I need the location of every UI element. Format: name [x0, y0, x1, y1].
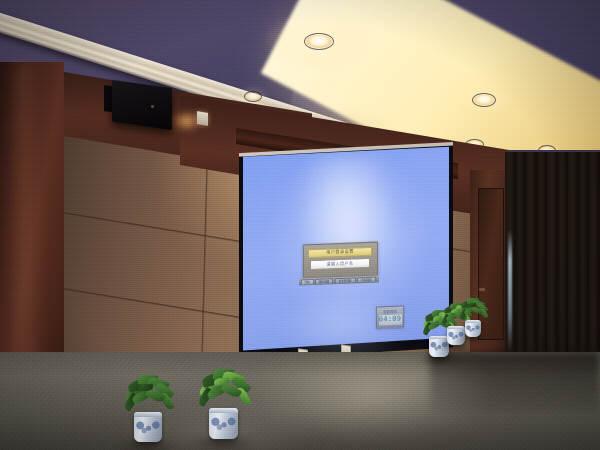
dialog-title-text: 用户登录设置	[309, 247, 371, 257]
dialog-text-input[interactable]: 请输入用户名	[310, 258, 370, 270]
ceiling-downlight-icon	[306, 35, 332, 48]
plant-pot	[134, 412, 162, 442]
potted-plant	[458, 300, 489, 342]
potted-plant	[196, 372, 253, 448]
clock-time-display: 04:09	[379, 314, 402, 325]
potted-plant	[122, 378, 176, 450]
wall-switch-plate[interactable]	[197, 111, 208, 126]
speaker-led-icon	[151, 105, 154, 108]
plant-pot-rim	[209, 408, 238, 413]
dialog-input-value: 请输入用户名	[311, 259, 369, 269]
taskbar-item[interactable]: 资源管理器	[335, 277, 356, 284]
window-curtain	[505, 152, 600, 352]
door-handle-icon[interactable]	[479, 288, 485, 291]
downlight-bulb	[246, 93, 260, 100]
plant-pot	[465, 320, 481, 337]
speaker-icon	[112, 80, 172, 130]
taskbar-start-button[interactable]: 开始	[301, 279, 314, 286]
plant-pot-rim	[465, 320, 481, 323]
dialog-title-bar: 用户登录设置	[308, 246, 372, 258]
plant-pot-rim	[134, 412, 162, 417]
taskbar-item[interactable]: 控制面板	[357, 276, 376, 283]
ceiling-downlight-icon	[474, 95, 494, 105]
downlight-bulb	[474, 95, 494, 105]
taskbar-item[interactable]: 我的电脑	[315, 278, 333, 285]
plant-pot	[209, 408, 238, 440]
projected-login-dialog[interactable]: 用户登录设置 请输入用户名	[303, 242, 378, 279]
projected-clock-widget[interactable]: 当前时间 04:09	[376, 305, 404, 328]
ceiling-downlight-icon	[246, 93, 260, 100]
downlight-bulb	[306, 35, 332, 48]
curtain-light-gap	[508, 230, 512, 350]
room-photo: 用户登录设置 请输入用户名 开始 我的电脑 资源管理器 控制面板 当前时间 04…	[0, 0, 600, 450]
